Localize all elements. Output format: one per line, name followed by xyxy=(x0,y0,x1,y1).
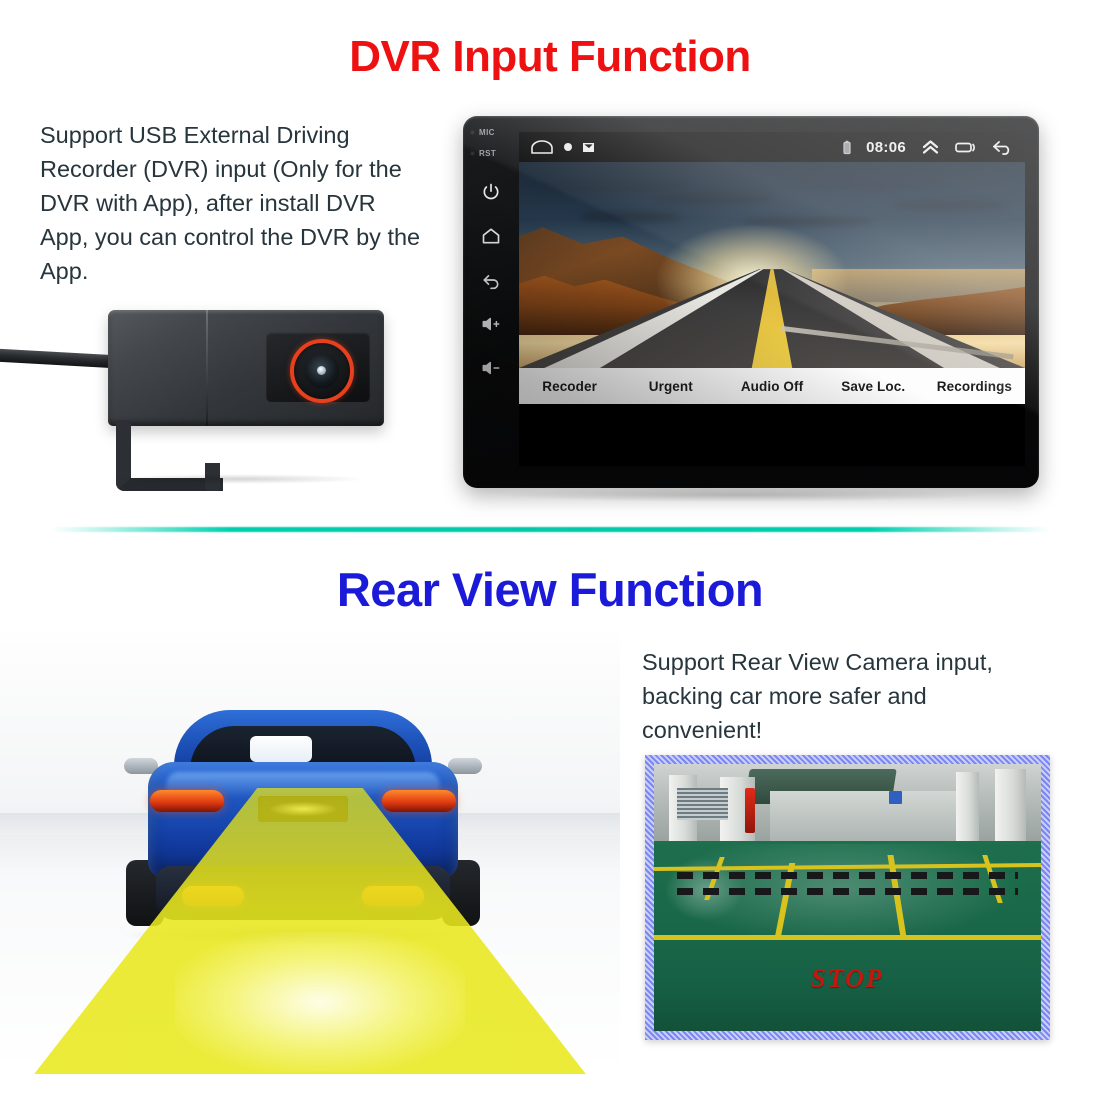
parking-camera-image: STOP xyxy=(654,764,1041,1031)
garage-pillar xyxy=(956,772,979,847)
wall-sign xyxy=(889,791,901,804)
mic-label: MIC xyxy=(479,128,495,137)
status-bar-left-group xyxy=(531,140,594,154)
rear-camera-parking-view: STOP xyxy=(645,755,1050,1040)
status-bar-right-group: 08:06 xyxy=(843,139,1013,156)
mic-led-icon xyxy=(470,130,475,135)
car-head-unit: MIC RST xyxy=(463,116,1039,488)
dvr-section-description: Support USB External Driving Recorder (D… xyxy=(40,118,425,288)
cloud xyxy=(539,174,691,193)
product-feature-page: DVR Input Function Support USB External … xyxy=(0,0,1100,1100)
volume-up-icon[interactable] xyxy=(478,311,504,337)
recordings-button[interactable]: Recordings xyxy=(924,379,1025,394)
head-unit-side-panel: MIC RST xyxy=(463,116,519,488)
back-arrow-icon[interactable] xyxy=(992,140,1013,155)
camera-lens-plate xyxy=(266,332,370,402)
stop-marking-text: STOP xyxy=(654,964,1041,994)
rear-view-section-title: Rear View Function xyxy=(0,562,1100,617)
section-divider xyxy=(50,527,1050,532)
battery-icon xyxy=(843,140,851,155)
save-loc-button[interactable]: Save Loc. xyxy=(823,379,924,394)
power-icon[interactable] xyxy=(478,179,504,205)
recoder-button[interactable]: Recoder xyxy=(519,379,620,394)
wheel-stop-curb xyxy=(677,888,1018,895)
cloud xyxy=(797,172,939,188)
camera-lens-reflection xyxy=(317,366,326,375)
head-unit-screen[interactable]: 08:06 xyxy=(519,132,1025,466)
taillight-right xyxy=(382,790,456,812)
fire-extinguisher xyxy=(745,788,755,833)
parking-line xyxy=(654,935,1041,940)
double-chevron-up-icon[interactable] xyxy=(921,139,940,155)
garage-vent-window xyxy=(677,788,727,820)
reset-indicator: RST xyxy=(470,149,512,158)
camera-drop-shadow xyxy=(108,474,368,484)
dvr-video-preview xyxy=(519,162,1025,368)
cloud xyxy=(580,211,681,221)
camera-body-seam xyxy=(206,310,208,426)
rear-camera-coverage-illustration xyxy=(0,632,620,1074)
side-mirror-right xyxy=(448,758,482,774)
dvr-section-title: DVR Input Function xyxy=(0,32,1100,82)
urgent-button[interactable]: Urgent xyxy=(620,379,721,394)
home-icon[interactable] xyxy=(478,223,504,249)
mic-indicator: MIC xyxy=(470,128,512,137)
status-bar-clock: 08:06 xyxy=(866,139,906,156)
garage-pillar xyxy=(995,769,1026,846)
windshield-highlight xyxy=(250,736,312,762)
reset-led-icon xyxy=(470,151,475,156)
taillight-left xyxy=(150,790,224,812)
volume-down-icon[interactable] xyxy=(478,355,504,381)
android-status-bar: 08:06 xyxy=(519,132,1025,162)
camera-lens-ring-icon xyxy=(290,339,354,403)
reset-label: RST xyxy=(479,149,496,158)
white-dot-icon xyxy=(564,143,572,151)
rear-view-section-description: Support Rear View Camera input, backing … xyxy=(642,645,1052,747)
camera-cable xyxy=(0,348,120,368)
camera-lens-glass xyxy=(305,354,339,388)
back-icon[interactable] xyxy=(478,267,504,293)
cone-hotspot xyxy=(175,932,465,1072)
recent-apps-icon[interactable] xyxy=(955,140,977,154)
home-dome-icon[interactable] xyxy=(531,140,553,154)
garage-back-wall xyxy=(770,791,971,847)
camera-body xyxy=(108,310,384,426)
notification-icon[interactable] xyxy=(583,142,594,153)
dvr-camera-illustration xyxy=(0,288,400,488)
dvr-app-button-bar: Recoder Urgent Audio Off Save Loc. Recor… xyxy=(519,368,1025,404)
wheel-stop-curb xyxy=(677,872,1018,879)
head-unit-drop-shadow xyxy=(499,488,979,502)
audio-off-button[interactable]: Audio Off xyxy=(721,379,822,394)
